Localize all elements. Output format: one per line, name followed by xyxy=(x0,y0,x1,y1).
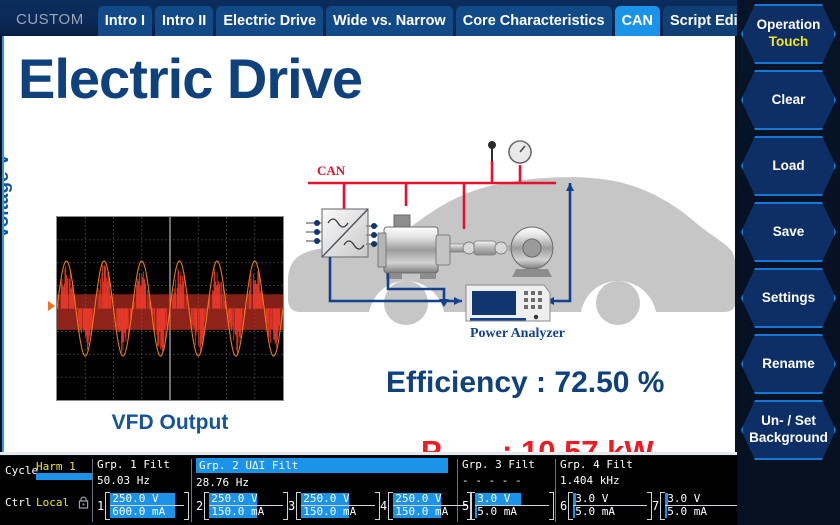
softkey-un-set[interactable]: Un- / SetBackground xyxy=(741,400,836,460)
softkey-sublabel: Touch xyxy=(769,34,809,51)
channel-current-row: 150.0 mA xyxy=(209,506,283,518)
channel-current-row: 150.0 mA xyxy=(393,506,467,518)
voltage-value: 3.0 V xyxy=(667,493,700,505)
sensor-head-icon xyxy=(488,141,496,149)
voltage-value: 3.0 V xyxy=(477,493,510,505)
current-value: 150.0 mA xyxy=(211,506,264,518)
channel-current-row: 150.0 mA xyxy=(301,506,375,518)
voltage-value: 250.0 V xyxy=(395,493,441,505)
scope-y-axis-label: Voltage V xyxy=(2,136,14,256)
channel-values: 250.0 V150.0 mA xyxy=(393,493,467,519)
motor-body xyxy=(384,227,438,273)
channel-current-row: 600.0 mA xyxy=(110,506,184,518)
softkey-label: Operation xyxy=(757,17,821,34)
softkey-label: Load xyxy=(772,158,804,175)
cycle-value: Harm 1 xyxy=(36,460,76,473)
channel-bracket-right xyxy=(184,492,189,520)
softkey-label: Rename xyxy=(762,356,815,373)
cycle-label: Cycle xyxy=(5,464,38,477)
scope-panel: Voltage V VFD Output xyxy=(14,206,294,451)
voltage-value: 3.0 V xyxy=(575,493,608,505)
analyzer-screen xyxy=(472,291,516,315)
current-value: 150.0 mA xyxy=(395,506,448,518)
scope-caption: VFD Output xyxy=(56,411,284,435)
channel-values: 250.0 V600.0 mA xyxy=(110,493,184,519)
channel-5[interactable]: 53.0 V5.0 mA xyxy=(462,492,554,520)
channel-values: 3.0 V5.0 mA xyxy=(665,493,739,519)
efficiency-readout: Efficiency : 72.50 % xyxy=(386,366,664,400)
motor-terminal-box xyxy=(394,215,410,227)
softkey-operation[interactable]: OperationTouch xyxy=(741,4,836,64)
cycle-bar xyxy=(36,473,92,480)
channel-number: 2 xyxy=(196,499,203,513)
channel-values: 250.0 V150.0 mA xyxy=(301,493,375,519)
current-value: 5.0 mA xyxy=(477,506,517,518)
power-loss-readout: PLOSS : 10.57 kW xyxy=(421,434,654,454)
channel-voltage-row: 3.0 V xyxy=(475,493,549,505)
tab-intro-ii[interactable]: Intro II xyxy=(155,6,213,36)
status-separator xyxy=(92,459,93,522)
channel-4[interactable]: 4250.0 V150.0 mA xyxy=(380,492,472,520)
main-canvas: Electric Drive CAN xyxy=(2,36,735,454)
tab-electric-drive[interactable]: Electric Drive xyxy=(216,6,323,36)
softkey-load[interactable]: Load xyxy=(741,136,836,196)
channel-3[interactable]: 3250.0 V150.0 mA xyxy=(288,492,380,520)
trigger-level-marker xyxy=(48,301,55,311)
torque-sensor xyxy=(474,241,496,255)
ctrl-label: Ctrl xyxy=(5,496,32,509)
efficiency-value: 72.50 % xyxy=(554,366,664,399)
group-column: Grp. 2 UΔI Filt28.76 Hz xyxy=(196,458,454,489)
application-window: CUSTOM Intro IIntro IIElectric DriveWide… xyxy=(0,0,840,525)
voltage-value: 250.0 V xyxy=(112,493,158,505)
scope-waveform xyxy=(57,217,283,400)
channel-number: 4 xyxy=(380,499,387,513)
dynamometer-hub xyxy=(523,239,541,257)
tab-list: Intro IIntro IIElectric DriveWide vs. Na… xyxy=(98,6,767,36)
status-bar: CycleHarm 1CtrlLocalGrp. 1 Filt50.03 HzG… xyxy=(0,456,737,525)
motor-foot-right xyxy=(420,273,436,279)
group-header[interactable]: Grp. 4 Filt xyxy=(560,458,633,471)
current-value: 150.0 mA xyxy=(303,506,356,518)
current-value: 5.0 mA xyxy=(667,506,707,518)
group-frequency: 1.404 kHz xyxy=(560,474,633,487)
coupling-joint-left xyxy=(463,242,475,254)
can-bus-label: CAN xyxy=(317,163,346,178)
lock-icon xyxy=(78,494,89,506)
softkey-label: Settings xyxy=(762,290,815,307)
tab-strip: CUSTOM Intro IIntro IIElectric DriveWide… xyxy=(0,0,740,36)
channel-2[interactable]: 2250.0 V150.0 mA xyxy=(196,492,288,520)
motor-input-terminals xyxy=(366,223,378,247)
power-analyzer-device xyxy=(466,285,550,321)
vehicle-diagram-svg: CAN xyxy=(284,131,735,346)
channel-values: 3.0 V5.0 mA xyxy=(573,493,647,519)
voltage-value: 250.0 V xyxy=(303,493,349,505)
group-header[interactable]: Grp. 3 Filt xyxy=(462,458,535,471)
group-column: Grp. 3 Filt- - - - - xyxy=(462,458,535,487)
current-value: 5.0 mA xyxy=(575,506,615,518)
group-column: Grp. 1 Filt50.03 Hz xyxy=(97,458,170,487)
vehicle-diagram: CAN xyxy=(284,131,735,346)
softkey-settings[interactable]: Settings xyxy=(741,268,836,328)
channel-number: 1 xyxy=(97,499,104,513)
group-frequency: 28.76 Hz xyxy=(196,476,454,489)
current-value: 600.0 mA xyxy=(112,506,165,518)
tab-can[interactable]: CAN xyxy=(615,6,660,36)
tab-core-characteristics[interactable]: Core Characteristics xyxy=(456,6,612,36)
softkey-rename[interactable]: Rename xyxy=(741,334,836,394)
channel-number: 7 xyxy=(652,499,659,513)
group-header[interactable]: Grp. 2 UΔI Filt xyxy=(196,458,448,473)
group-frequency: - - - - - xyxy=(462,474,535,487)
dynamometer-base xyxy=(512,269,552,277)
ploss-prefix: P xyxy=(421,434,442,454)
efficiency-label: Efficiency : xyxy=(386,366,554,399)
channel-current-row: 5.0 mA xyxy=(573,506,647,518)
analyzer-keypad xyxy=(524,291,542,309)
channel-values: 250.0 V150.0 mA xyxy=(209,493,283,519)
softkey-save[interactable]: Save xyxy=(741,202,836,262)
channel-voltage-row: 250.0 V xyxy=(393,493,467,505)
front-wheel-arch xyxy=(384,281,428,325)
ctrl-value: Local xyxy=(36,496,69,509)
channel-voltage-row: 250.0 V xyxy=(209,493,283,505)
coupling-joint-right xyxy=(495,242,507,254)
softkey-label: Un- / Set xyxy=(761,413,816,430)
channel-voltage-row: 3.0 V xyxy=(573,493,647,505)
tab-wide-vs-narrow[interactable]: Wide vs. Narrow xyxy=(326,6,453,36)
group-column: Grp. 4 Filt1.404 kHz xyxy=(560,458,633,487)
custom-label: CUSTOM xyxy=(0,11,98,36)
motor-end-bell-right xyxy=(436,235,450,265)
power-analyzer-label: Power Analyzer xyxy=(470,326,565,341)
ploss-value: : 10.57 kW xyxy=(493,434,653,454)
channel-bracket-right xyxy=(549,492,554,520)
group-header[interactable]: Grp. 1 Filt xyxy=(97,458,170,471)
canvas-bottom-separator xyxy=(0,452,737,455)
status-separator xyxy=(191,459,192,522)
channel-number: 5 xyxy=(462,499,469,513)
status-separator xyxy=(555,459,556,522)
motor-end-bell-left xyxy=(378,233,386,267)
softkey-panel: OperationTouchClearLoadSaveSettingsRenam… xyxy=(737,0,840,525)
tab-intro-i[interactable]: Intro I xyxy=(98,6,152,36)
channel-1[interactable]: 1250.0 V600.0 mA xyxy=(97,492,189,520)
softkey-sublabel: Background xyxy=(749,430,828,447)
voltage-value: 250.0 V xyxy=(211,493,257,505)
group-frequency: 50.03 Hz xyxy=(97,474,170,487)
softkey-label: Save xyxy=(773,224,805,241)
channel-number: 6 xyxy=(560,499,567,513)
channel-current-row: 5.0 mA xyxy=(475,506,549,518)
channel-current-row: 5.0 mA xyxy=(665,506,739,518)
channel-6[interactable]: 63.0 V5.0 mA xyxy=(560,492,652,520)
inverter-input-terminals xyxy=(306,220,322,244)
channel-voltage-row: 3.0 V xyxy=(665,493,739,505)
channel-voltage-row: 250.0 V xyxy=(110,493,184,505)
page-title: Electric Drive xyxy=(18,46,362,111)
channel-voltage-row: 250.0 V xyxy=(301,493,375,505)
rear-wheel-arch xyxy=(596,281,640,325)
softkey-clear[interactable]: Clear xyxy=(741,70,836,130)
channel-values: 3.0 V5.0 mA xyxy=(475,493,549,519)
oscilloscope-display[interactable] xyxy=(56,216,284,401)
channel-number: 3 xyxy=(288,499,295,513)
channel-7[interactable]: 73.0 V5.0 mA xyxy=(652,492,744,520)
softkey-label: Clear xyxy=(772,92,806,109)
shaft-segment-1 xyxy=(450,244,464,252)
